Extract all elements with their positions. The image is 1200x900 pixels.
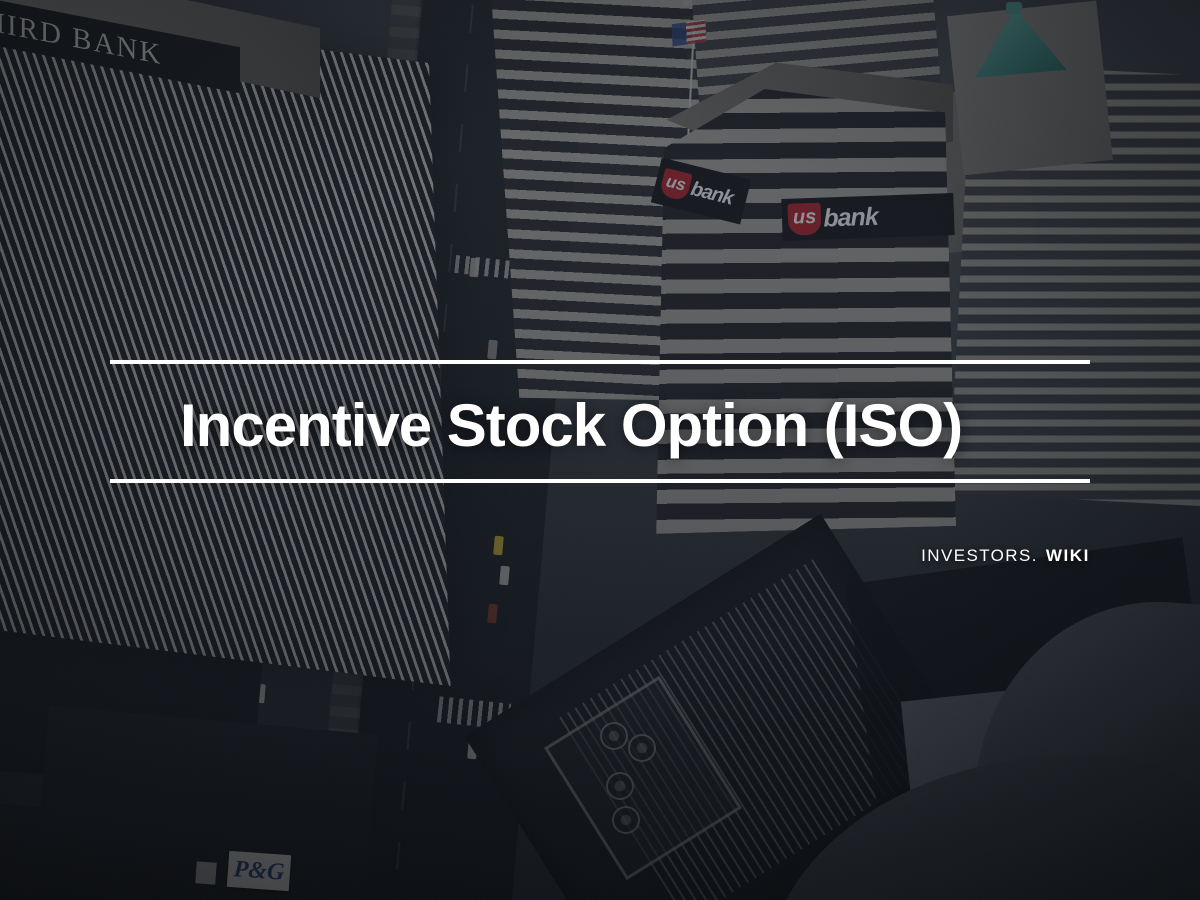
vehicle <box>499 566 510 586</box>
rule-bottom <box>110 479 1090 483</box>
pg-wordmark: P&G <box>233 857 285 884</box>
vehicle <box>493 536 504 556</box>
usbank-shield-icon: us <box>787 203 821 236</box>
vehicle <box>469 258 480 278</box>
hero-text-overlay: Incentive Stock Option (ISO) INVESTORS.W… <box>110 360 1090 483</box>
brand-logo: INVESTORS.WIKI <box>921 546 1090 566</box>
vehicle <box>487 604 498 624</box>
building-left-tower <box>0 0 451 686</box>
usbank-wordmark: bank <box>688 177 735 210</box>
hero-title-wrap: Incentive Stock Option (ISO) <box>110 364 1090 479</box>
brand-primary: INVESTORS. <box>921 546 1038 565</box>
wall-panel <box>195 861 216 884</box>
dome-cupola <box>1006 2 1022 14</box>
brand-secondary: WIKI <box>1046 546 1090 565</box>
american-flag-icon <box>672 20 706 47</box>
vehicle <box>487 340 498 360</box>
pg-banner: P&G <box>227 851 291 891</box>
usbank-sign-right: us bank <box>781 193 954 241</box>
hero-banner: HIRD BANK us bank us bank <box>0 0 1200 900</box>
usbank-shield-icon: us <box>659 168 693 202</box>
page-title: Incentive Stock Option (ISO) <box>180 394 1090 457</box>
usbank-wordmark: bank <box>823 202 878 233</box>
